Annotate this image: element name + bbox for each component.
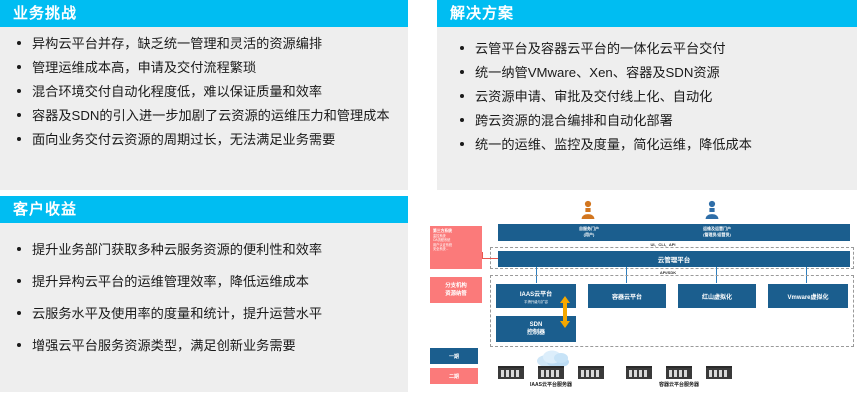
legend-phase-one-label: 一期 (449, 353, 459, 360)
third-party-connector-elbow (482, 252, 483, 259)
list-item: 云服务水平及使用率的度量和统计，提升运营水平 (10, 305, 398, 322)
benefit-bullet-list: 提升业务部门获取多种云服务资源的便利性和效率 提升异构云平台的运维管理效率，降低… (10, 241, 398, 354)
legend-phase-two-label: 二期 (449, 373, 459, 380)
sdn-line1: SDN (530, 321, 543, 329)
platform-vmware-name: Vmware虚拟化 (787, 292, 828, 301)
panel-solution: 解决方案 云管平台及容器云平台的一体化云平台交付 统一纳管VMware、Xen、… (437, 0, 857, 190)
third-party-systems-list: 第三方系统 监控系统 OA流程系统 用户认证系统 安全系统... (430, 229, 452, 251)
list-item: 云管平台及容器云平台的一体化云平台交付 (453, 40, 847, 57)
panel-customer-benefit: 客户收益 提升业务部门获取多种云服务资源的便利性和效率 提升异构云平台的运维管理… (0, 196, 408, 392)
platform-box-container: 容器云平台 (588, 284, 666, 308)
panel-challenge-body: 异构云平台并存，缺乏统一管理和灵活的资源编排 管理运维成本高，申请及交付流程繁琐… (0, 27, 408, 190)
third-party-systems-box: 第三方系统 监控系统 OA流程系统 用户认证系统 安全系统... (430, 226, 482, 269)
third-party-item: OA流程系统 (433, 238, 452, 242)
branch-resource-line2: 资源纳管 (445, 290, 467, 298)
panel-challenge-title: 业务挑战 (13, 0, 77, 27)
server-caption-container: 容器云平台服务器 (626, 381, 732, 388)
third-party-item: 安全系统... (433, 247, 452, 251)
list-item: 面向业务交付云资源的周期过长，无法满足业务需要 (10, 131, 398, 148)
solution-bullet-list: 云管平台及容器云平台的一体化云平台交付 统一纳管VMware、Xen、容器及SD… (453, 40, 847, 153)
branch-resource-box: 分支机构 资源纳管 (430, 277, 482, 303)
list-item: 混合环境交付自动化程度低，难以保证质量和效率 (10, 83, 398, 100)
list-item: 异构云平台并存，缺乏统一管理和灵活的资源编排 (10, 35, 398, 52)
server-icon (706, 366, 732, 379)
server-caption-iaas: IAAS云平台服务器 (498, 381, 604, 388)
third-party-connector-line (482, 258, 498, 259)
panel-benefit-title: 客户收益 (13, 196, 77, 223)
platform-iaas-sub: 平滑升级与扩容 (524, 299, 548, 304)
platform-box-vmware: Vmware虚拟化 (768, 284, 848, 308)
list-item: 云资源申请、审批及交付线上化、自动化 (453, 88, 847, 105)
list-item: 容器及SDN的引入进一步加剧了云资源的运维压力和管理成本 (10, 107, 398, 124)
server-icon (498, 366, 524, 379)
panel-benefit-body: 提升业务部门获取多种云服务资源的便利性和效率 提升异构云平台的运维管理效率，降低… (0, 223, 408, 392)
slide-root: 业务挑战 异构云平台并存，缺乏统一管理和灵活的资源编排 管理运维成本高，申请及交… (0, 0, 857, 400)
server-icon (538, 366, 564, 379)
list-item: 统一的运维、监控及度量，简化运维，降低成本 (453, 136, 847, 153)
self-service-portal-line2: (用户) (558, 232, 620, 238)
challenge-bullet-list: 异构云平台并存，缺乏统一管理和灵活的资源编排 管理运维成本高，申请及交付流程繁琐… (10, 35, 398, 148)
list-item: 统一纳管VMware、Xen、容器及SDN资源 (453, 64, 847, 81)
cloud-management-platform-box: 云管理平台 (498, 251, 850, 267)
panel-challenge-header: 业务挑战 (0, 0, 408, 27)
panel-solution-title: 解决方案 (450, 0, 514, 27)
third-party-systems-title: 第三方系统 (433, 229, 452, 233)
architecture-diagram: 自服务门户 (用户) 运维及运营门户 (管理员/运营员) UI、CLI、API … (428, 196, 857, 400)
panel-business-challenge: 业务挑战 异构云平台并存，缺乏统一管理和灵活的资源编排 管理运维成本高，申请及交… (0, 0, 408, 190)
platform-hongshan-name: 红山虚拟化 (702, 292, 732, 301)
list-item: 管理运维成本高，申请及交付流程繁琐 (10, 59, 398, 76)
server-icon (666, 366, 692, 379)
list-item: 提升异构云平台的运维管理效率，降低运维成本 (10, 273, 398, 290)
ops-portal-label: 运维及运营门户 (管理员/运营员) (683, 226, 751, 240)
platform-container-name: 容器云平台 (612, 292, 642, 301)
list-item: 提升业务部门获取多种云服务资源的便利性和效率 (10, 241, 398, 258)
self-service-portal-label: 自服务门户 (用户) (558, 226, 620, 240)
panel-solution-body: 云管平台及容器云平台的一体化云平台交付 统一纳管VMware、Xen、容器及SD… (437, 27, 857, 190)
list-item: 增强云平台服务资源类型，满足创新业务需要 (10, 337, 398, 354)
cloud-management-platform-label: 云管理平台 (658, 254, 691, 264)
legend-phase-one: 一期 (430, 348, 478, 364)
ops-admin-user-icon (704, 200, 720, 225)
platform-iaas-name: IAAS云平台 (520, 289, 552, 298)
legend-phase-two: 二期 (430, 368, 478, 384)
server-icon (626, 366, 652, 379)
branch-resource-line1: 分支机构 (445, 282, 467, 290)
panel-benefit-header: 客户收益 (0, 196, 408, 223)
sdn-line2: 控制器 (527, 329, 545, 337)
portal-bar (498, 224, 850, 241)
server-icon (578, 366, 604, 379)
platform-box-hongshan: 红山虚拟化 (678, 284, 756, 308)
arrow-down-icon (559, 312, 571, 328)
self-service-user-icon (580, 200, 596, 225)
ops-portal-line2: (管理员/运营员) (683, 232, 751, 238)
list-item: 跨云资源的混合编排和自动化部署 (453, 112, 847, 129)
panel-solution-header: 解决方案 (437, 0, 857, 27)
